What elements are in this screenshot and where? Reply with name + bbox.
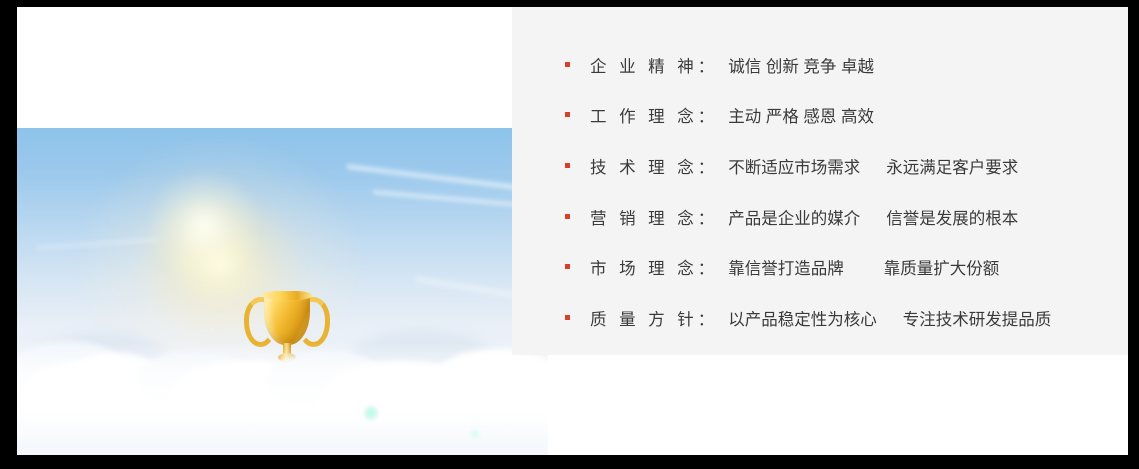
row-content: 以产品稳定性为核心 专注技术研发提品质 [728,306,1051,330]
cloud-base [17,343,548,455]
row-label: 质 量 方 针： [590,306,718,330]
trophy-rim [262,291,312,300]
lens-flare-dot [469,428,481,440]
bullet-dot-icon [565,315,570,320]
content-part: 靠质量扩大份额 [884,255,1000,279]
sun-flare [145,168,263,286]
content-part: 主动 严格 感恩 高效 [728,103,874,127]
list-item: 市 场 理 念： 靠信誉打造品牌 靠质量扩大份额 [565,256,999,278]
list-item: 工 作 理 念： 主动 严格 感恩 高效 [565,104,874,126]
list-item: 质 量 方 针： 以产品稳定性为核心 专注技术研发提品质 [565,307,1051,329]
row-label: 企 业 精 神： [590,53,718,77]
list-item: 技 术 理 念： 不断适应市场需求 永远满足客户要求 [565,155,1018,177]
row-content: 不断适应市场需求 永远满足客户要求 [728,154,1018,178]
content-part: 永远满足客户要求 [886,154,1018,178]
content-part: 不断适应市场需求 [728,154,860,178]
row-label: 营 销 理 念： [590,205,718,229]
slide-canvas: 2 1 3 [0,0,1139,469]
row-content: 主动 严格 感恩 高效 [728,103,874,127]
row-content: 诚信 创新 竞争 卓越 [728,53,874,77]
bullet-dot-icon [565,163,570,168]
row-content: 产品是企业的媒介 信誉是发展的根本 [728,205,1018,229]
values-panel: 企 业 精 神： 诚信 创新 竞争 卓越 工 作 理 念： 主动 严格 感恩 高… [512,7,1128,355]
content-part: 专注技术研发提品质 [903,306,1052,330]
bullet-dot-icon [565,214,570,219]
bullet-dot-icon [565,62,570,67]
content-part: 靠信誉打造品牌 [728,255,844,279]
bullet-dot-icon [565,264,570,269]
row-label: 市 场 理 念： [590,255,718,279]
lens-flare-dot [362,404,380,422]
row-label: 技 术 理 念： [590,154,718,178]
list-item: 企 业 精 神： 诚信 创新 竞争 卓越 [565,54,874,76]
list-item: 营 销 理 念： 产品是企业的媒介 信誉是发展的根本 [565,206,1018,228]
row-content: 靠信誉打造品牌 靠质量扩大份额 [728,255,999,279]
content-part: 以产品稳定性为核心 [728,306,877,330]
content-part: 诚信 创新 竞争 卓越 [728,53,874,77]
bullet-dot-icon [565,112,570,117]
row-label: 工 作 理 念： [590,103,718,127]
content-part: 产品是企业的媒介 [728,205,860,229]
trophy-podium-photo: 2 1 3 [17,128,548,455]
content-part: 信誉是发展的根本 [886,205,1018,229]
